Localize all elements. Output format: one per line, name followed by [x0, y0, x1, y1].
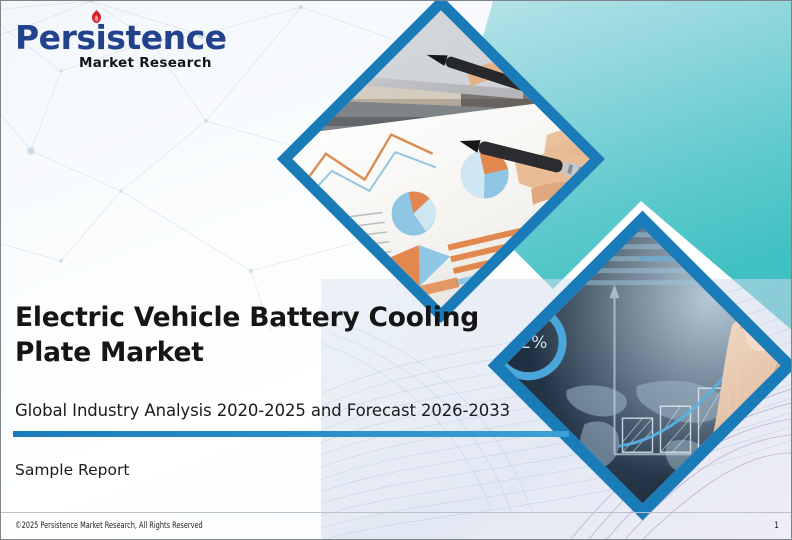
- brand-logo: Persistence Market Research: [15, 21, 245, 71]
- flame-icon: [91, 10, 102, 23]
- page-footer: ©2025 Persistence Market Research, All R…: [1, 513, 792, 539]
- report-cover-page: Persistence Market Research: [0, 0, 792, 540]
- footer-page-number: 1: [774, 521, 779, 531]
- report-type-label: Sample Report: [15, 461, 129, 479]
- title-divider: [13, 431, 569, 437]
- report-subtitle: Global Industry Analysis 2020-2025 and F…: [15, 401, 575, 420]
- footer-copyright: ©2025 Persistence Market Research, All R…: [15, 521, 203, 531]
- logo-name-text: Persistence: [15, 18, 227, 57]
- page-title: Electric Vehicle Battery Cooling Plate M…: [15, 301, 485, 371]
- logo-wordmark: Persistence: [15, 21, 245, 54]
- logo-tagline-text: Market Research: [79, 57, 245, 71]
